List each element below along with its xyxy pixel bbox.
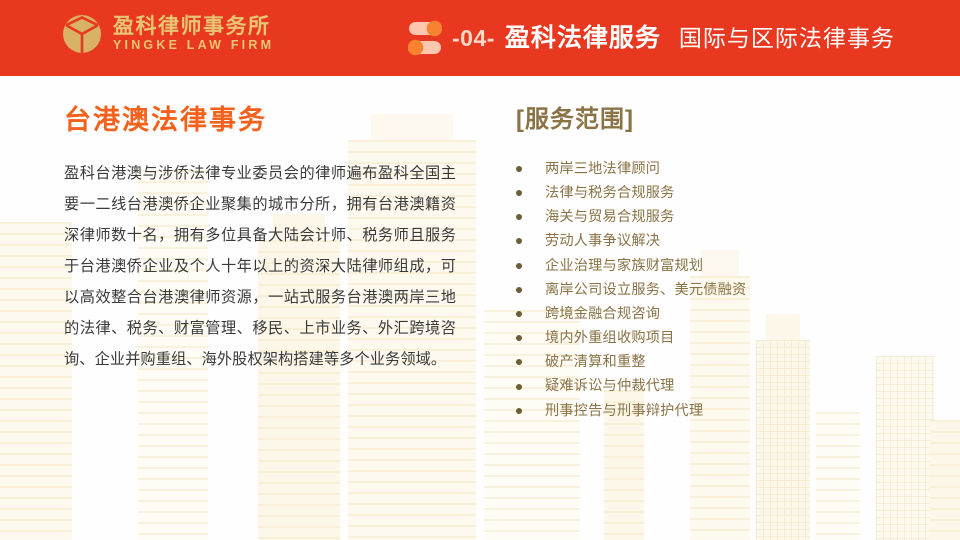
service-list-item: 海关与贸易合规服务 — [516, 205, 916, 229]
bullet-icon — [516, 408, 522, 414]
service-item-label: 疑难诉讼与仲裁代理 — [545, 379, 675, 393]
background-building — [816, 412, 860, 540]
bullet-icon — [516, 263, 522, 269]
bullet-icon — [516, 287, 522, 293]
service-scope-list: 两岸三地法律顾问法律与税务合规服务海关与贸易合规服务劳动人事争议解决企业治理与家… — [516, 157, 916, 423]
service-scope-heading: [服务范围] — [516, 106, 916, 135]
header-title-main: 盈科法律服务 — [505, 18, 661, 58]
slide-header-bar: 盈科律师事务所 YINGKE LAW FIRM -04- 盈科法律服务 国际与区… — [0, 0, 960, 76]
bullet-icon — [516, 359, 522, 365]
service-item-label: 破产清算和重整 — [545, 355, 646, 369]
bullet-icon — [516, 166, 522, 172]
service-item-label: 海关与贸易合规服务 — [545, 210, 675, 224]
left-content-column: 台港澳法律事务 盈科台港澳与涉侨法律专业委员会的律师遍布盈科全国主要一二线台港澳… — [64, 104, 456, 375]
service-list-item: 劳动人事争议解决 — [516, 229, 916, 253]
service-item-label: 两岸三地法律顾问 — [545, 162, 660, 176]
brand-name-en: YINGKE LAW FIRM — [113, 39, 274, 52]
header-title-sub: 国际与区际法律事务 — [679, 18, 895, 58]
service-item-label: 劳动人事争议解决 — [545, 234, 660, 248]
bullet-icon — [516, 238, 522, 244]
yingke-cube-logo-icon — [62, 14, 102, 54]
service-list-item: 法律与税务合规服务 — [516, 181, 916, 205]
bullet-icon — [516, 190, 522, 196]
service-list-item: 境内外重组收购项目 — [516, 326, 916, 350]
brand-text-block: 盈科律师事务所 YINGKE LAW FIRM — [113, 16, 274, 52]
page-title: 台港澳法律事务 — [64, 104, 456, 136]
slide-root: 盈科律师事务所 YINGKE LAW FIRM -04- 盈科法律服务 国际与区… — [0, 0, 960, 540]
service-item-label: 境内外重组收购项目 — [545, 331, 675, 345]
section-number: -04- — [452, 18, 495, 58]
service-item-label: 跨境金融合规咨询 — [545, 307, 660, 321]
background-building — [0, 222, 72, 540]
bullet-icon — [516, 335, 522, 341]
service-item-label: 离岸公司设立服务、美元债融资 — [545, 283, 746, 297]
service-list-item: 企业治理与家族财富规划 — [516, 254, 916, 278]
service-item-label: 刑事控告与刑事辩护代理 — [545, 404, 703, 418]
service-list-item: 跨境金融合规咨询 — [516, 302, 916, 326]
bullet-icon — [516, 384, 522, 390]
right-content-column: [服务范围] 两岸三地法律顾问法律与税务合规服务海关与贸易合规服务劳动人事争议解… — [516, 106, 916, 423]
bullet-icon — [516, 214, 522, 220]
background-building — [930, 420, 960, 540]
service-list-item: 离岸公司设立服务、美元债融资 — [516, 278, 916, 302]
service-item-label: 企业治理与家族财富规划 — [545, 259, 703, 273]
brand-lockup: 盈科律师事务所 YINGKE LAW FIRM — [62, 14, 274, 54]
bullet-icon — [516, 311, 522, 317]
header-title-group: -04- 盈科法律服务 国际与区际法律事务 — [408, 18, 895, 58]
building-texture — [930, 420, 960, 540]
service-list-item: 两岸三地法律顾问 — [516, 157, 916, 181]
service-list-item: 疑难诉讼与仲裁代理 — [516, 374, 916, 398]
body-paragraph: 盈科台港澳与涉侨法律专业委员会的律师遍布盈科全国主要一二线台港澳侨企业聚集的城市… — [64, 158, 456, 375]
brand-name-cn: 盈科律师事务所 — [113, 16, 274, 38]
service-item-label: 法律与税务合规服务 — [545, 186, 675, 200]
service-list-item: 破产清算和重整 — [516, 350, 916, 374]
building-texture — [0, 222, 72, 540]
two-pill-toggle-icon — [408, 18, 442, 58]
building-texture — [816, 412, 860, 540]
service-list-item: 刑事控告与刑事辩护代理 — [516, 399, 916, 423]
